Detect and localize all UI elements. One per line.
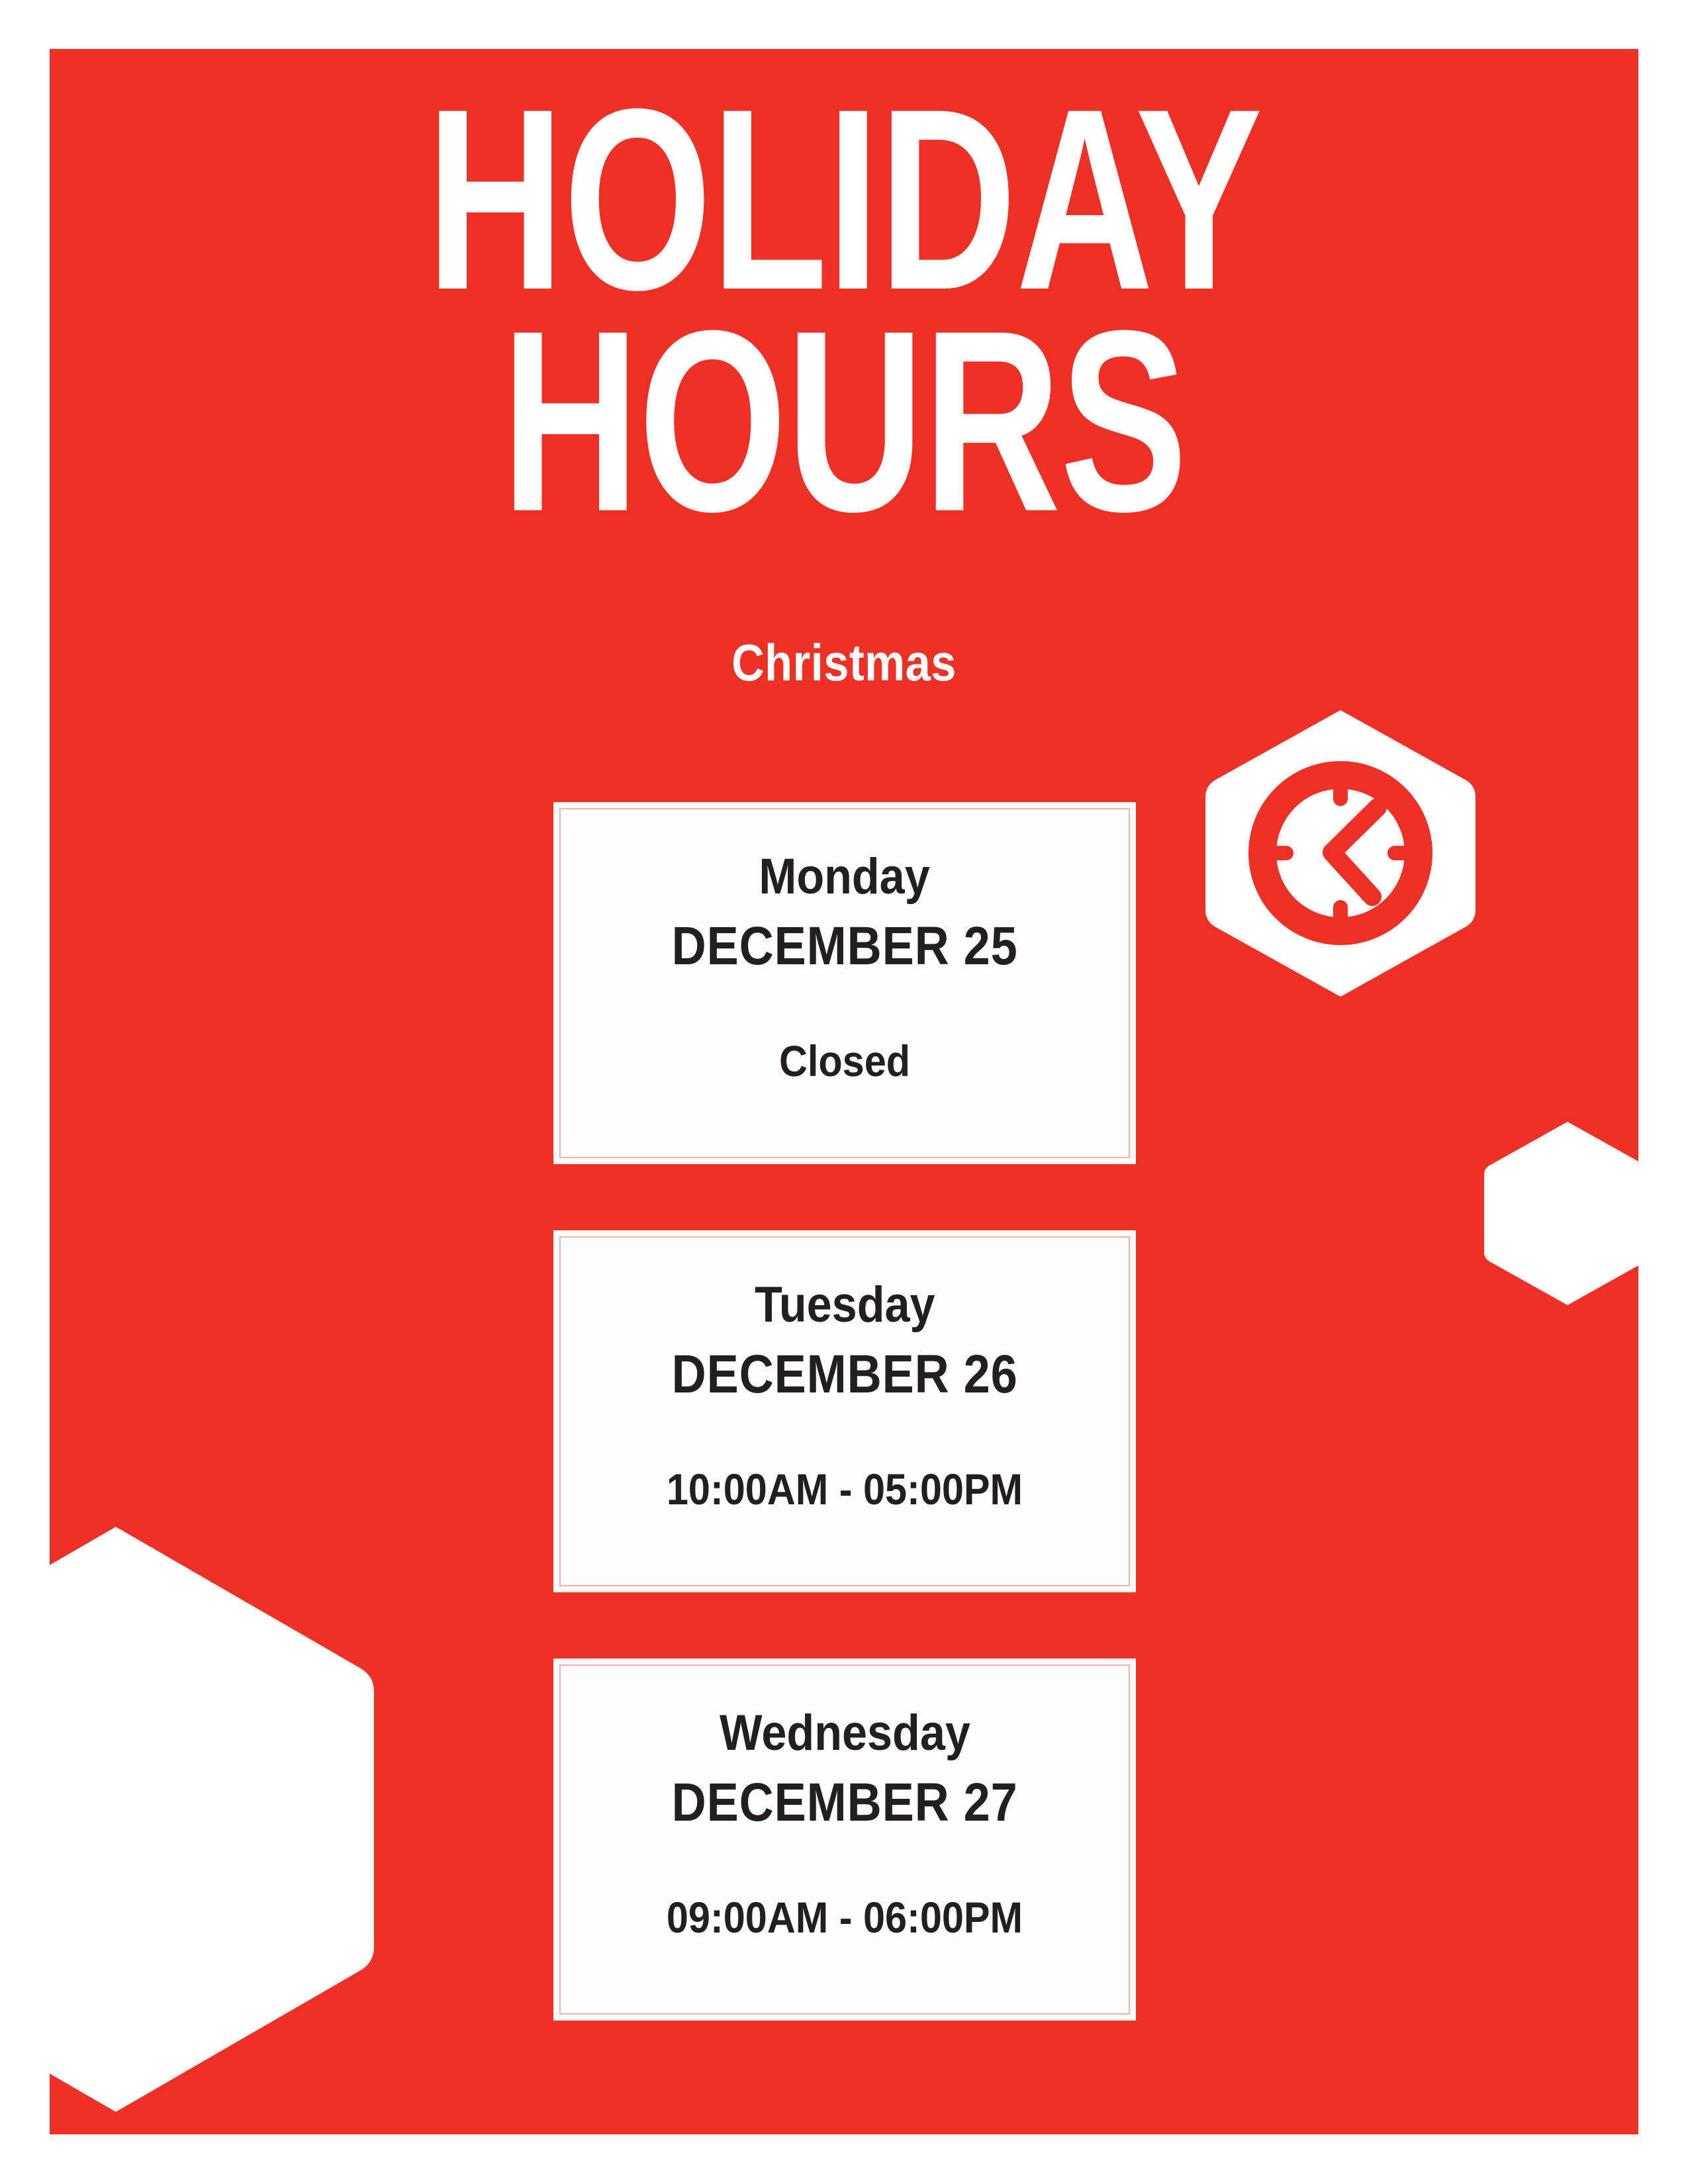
schedule-hours: Closed — [779, 1038, 910, 1084]
schedule-card: Tuesday DECEMBER 26 10:00AM - 05:00PM — [553, 1230, 1136, 1592]
title-line-hours: HOURS — [256, 310, 1432, 532]
schedule-hours: 09:00AM - 06:00PM — [667, 1895, 1023, 1940]
schedule-hours: 10:00AM - 05:00PM — [667, 1467, 1023, 1512]
hexagon-decoration-icon — [50, 1522, 381, 2117]
schedule-card: Wednesday DECEMBER 27 09:00AM - 06:00PM — [553, 1659, 1136, 2021]
schedule-weekday: Monday — [759, 850, 930, 903]
schedule-weekday: Tuesday — [755, 1279, 935, 1332]
schedule-date: DECEMBER 26 — [672, 1346, 1018, 1403]
hexagon-decoration-small-icon — [1481, 1119, 1638, 1308]
schedule-date: DECEMBER 27 — [672, 1774, 1018, 1831]
holiday-hours-poster: HOLIDAY HOURS Christmas Monday DECEMB — [50, 49, 1638, 2134]
schedule-date: DECEMBER 25 — [672, 918, 1018, 975]
clock-icon — [1201, 706, 1479, 1001]
poster-subtitle: Christmas — [145, 637, 1543, 688]
schedule-list: Monday DECEMBER 25 Closed Tuesday DECEMB… — [553, 802, 1136, 2021]
schedule-weekday: Wednesday — [720, 1707, 970, 1760]
schedule-card: Monday DECEMBER 25 Closed — [553, 802, 1136, 1164]
poster-title: HOLIDAY HOURS — [50, 89, 1638, 533]
